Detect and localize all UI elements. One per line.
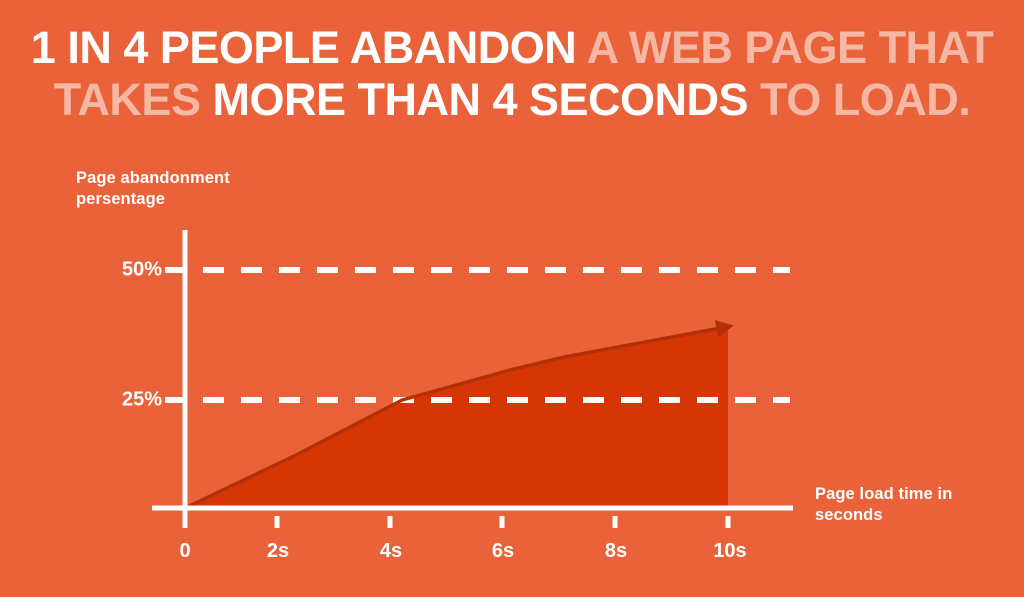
headline-line-2: TAKES MORE THAN 4 SECONDS TO LOAD. <box>0 74 1024 126</box>
headline-line-1: 1 IN 4 PEOPLE ABANDON A WEB PAGE THAT <box>0 22 1024 74</box>
headline-segment-faded: TAKES <box>54 74 213 125</box>
x-tick-label-2s: 2s <box>267 540 289 563</box>
x-tick-label-8s: 8s <box>605 540 627 563</box>
headline: 1 IN 4 PEOPLE ABANDON A WEB PAGE THAT TA… <box>0 22 1024 126</box>
headline-segment-faded: A WEB PAGE THAT <box>587 22 994 73</box>
y-tick-label-50: 50% <box>102 259 162 282</box>
headline-segment-faded: TO LOAD. <box>760 74 970 125</box>
headline-segment-solid: MORE THAN 4 SECONDS <box>212 74 760 125</box>
infographic-root: 1 IN 4 PEOPLE ABANDON A WEB PAGE THAT TA… <box>0 0 1024 597</box>
headline-segment-solid: 1 IN 4 PEOPLE ABANDON <box>31 22 587 73</box>
y-axis-title: Page abandonment persentage <box>76 168 306 210</box>
x-axis-title: Page load time in seconds <box>815 484 1015 526</box>
chart-area-fill <box>185 327 728 508</box>
x-axis-ticks <box>185 512 728 528</box>
chart-canvas <box>0 150 1024 597</box>
x-tick-label-10s: 10s <box>713 540 746 563</box>
x-tick-label-0: 0 <box>179 540 190 563</box>
x-tick-label-6s: 6s <box>492 540 514 563</box>
area-chart: Page abandonment persentage Page load ti… <box>0 150 1024 597</box>
y-tick-label-25: 25% <box>102 389 162 412</box>
x-tick-label-4s: 4s <box>380 540 402 563</box>
